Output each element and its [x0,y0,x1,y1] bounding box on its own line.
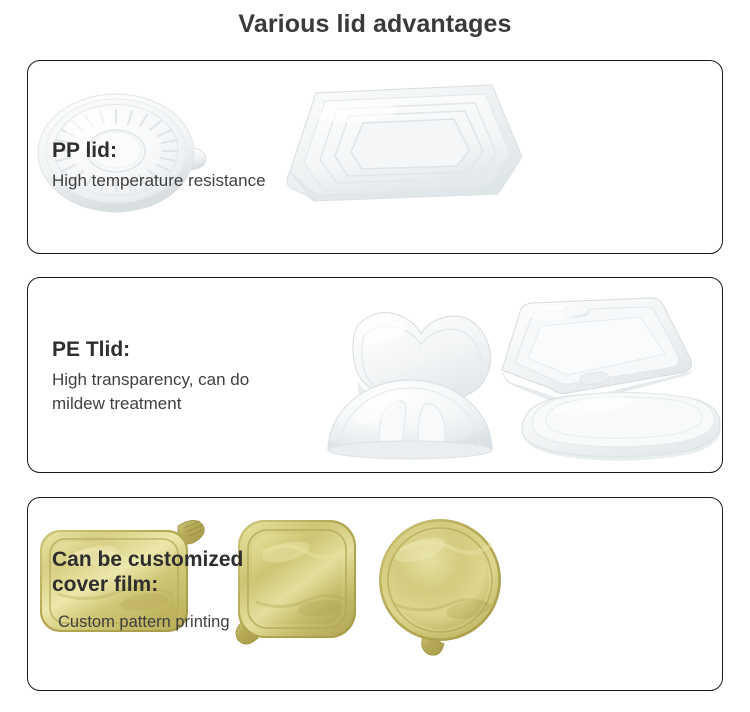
panel-cover-film-heading: Can be customized cover film: [52,548,243,598]
panel-pp-lid-heading: PP lid: [52,139,266,164]
page-title: Various lid advantages [0,10,750,39]
panel-pe-lid-subtitle: High transparency, can do mildew treatme… [52,368,249,417]
panel-pe-lid-text: PE Tlid: High transparency, can do milde… [52,338,249,417]
square-dome-pe-lid-art [502,298,695,407]
panel-pe-lid: PE Tlid: High transparency, can do milde… [27,277,723,473]
round-gold-foil-lid-art [379,519,501,655]
panel-cover-film-text: Can be customized cover film: Custom pat… [52,548,243,634]
rectangular-pp-lid-art [287,85,522,201]
panel-pp-lid: PP lid: High temperature resistance [27,60,723,254]
square-gold-foil-lid-art [236,520,356,644]
infographic-page: Various lid advantages PP lid: High temp… [0,0,750,712]
panel-pe-lid-heading: PE Tlid: [52,338,249,363]
panel-cover-film-subtitle: Custom pattern printing [52,611,243,635]
panel-pp-lid-text: PP lid: High temperature resistance [52,139,266,193]
oval-flat-pe-lid-art [522,393,720,461]
round-dome-pe-lid-art [328,380,492,459]
panel-cover-film: Can be customized cover film: Custom pat… [27,497,723,691]
panel-pp-lid-subtitle: High temperature resistance [52,169,266,194]
heart-dome-pe-lid-art [353,313,491,417]
